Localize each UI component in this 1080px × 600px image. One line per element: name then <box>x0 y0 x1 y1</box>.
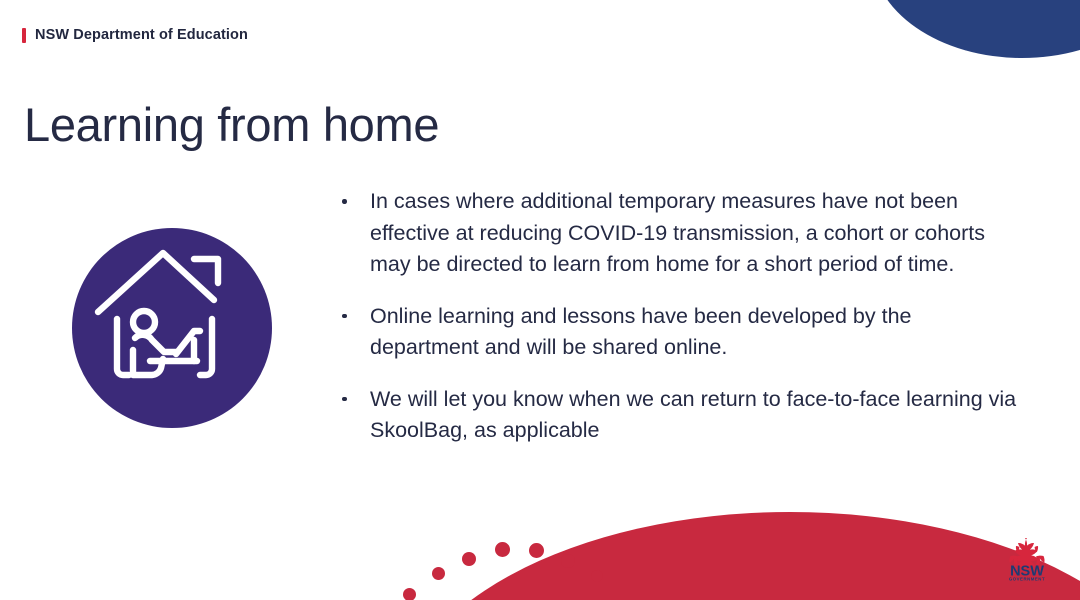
slide-canvas: NSW Department of Education Learning fro… <box>0 0 1080 600</box>
page-title: Learning from home <box>24 97 439 152</box>
bullet-list: In cases where additional temporary meas… <box>336 186 1026 447</box>
decorative-red-shape <box>395 512 1080 600</box>
list-item: Online learning and lessons have been de… <box>336 301 1026 364</box>
learning-from-home-icon <box>72 228 272 428</box>
list-item: In cases where additional temporary meas… <box>336 186 1026 281</box>
decorative-dot <box>495 542 510 557</box>
list-item: We will let you know when we can return … <box>336 384 1026 447</box>
brand-bar: NSW Department of Education <box>22 27 248 43</box>
list-item-text: In cases where additional temporary meas… <box>370 189 985 276</box>
decorative-dot <box>561 554 575 568</box>
decorative-dot <box>432 567 445 580</box>
list-item-text: Online learning and lessons have been de… <box>370 304 911 360</box>
list-item-text: We will let you know when we can return … <box>370 387 1016 443</box>
government-subtext: GOVERNMENT <box>1009 577 1045 582</box>
decorative-dot <box>529 543 544 558</box>
waratah-icon <box>1009 538 1044 567</box>
bullet-dot-icon <box>342 199 347 204</box>
nsw-government-logo: NSW GOVERNMENT <box>996 534 1058 582</box>
decorative-dot <box>403 588 416 600</box>
decorative-dot <box>462 552 476 566</box>
decorative-dot <box>591 570 603 582</box>
bullet-dot-icon <box>342 397 347 402</box>
bullet-dot-icon <box>342 314 347 319</box>
decorative-blue-shape <box>872 0 1080 58</box>
brand-label: NSW Department of Education <box>35 27 248 43</box>
brand-tick-icon <box>22 28 26 43</box>
